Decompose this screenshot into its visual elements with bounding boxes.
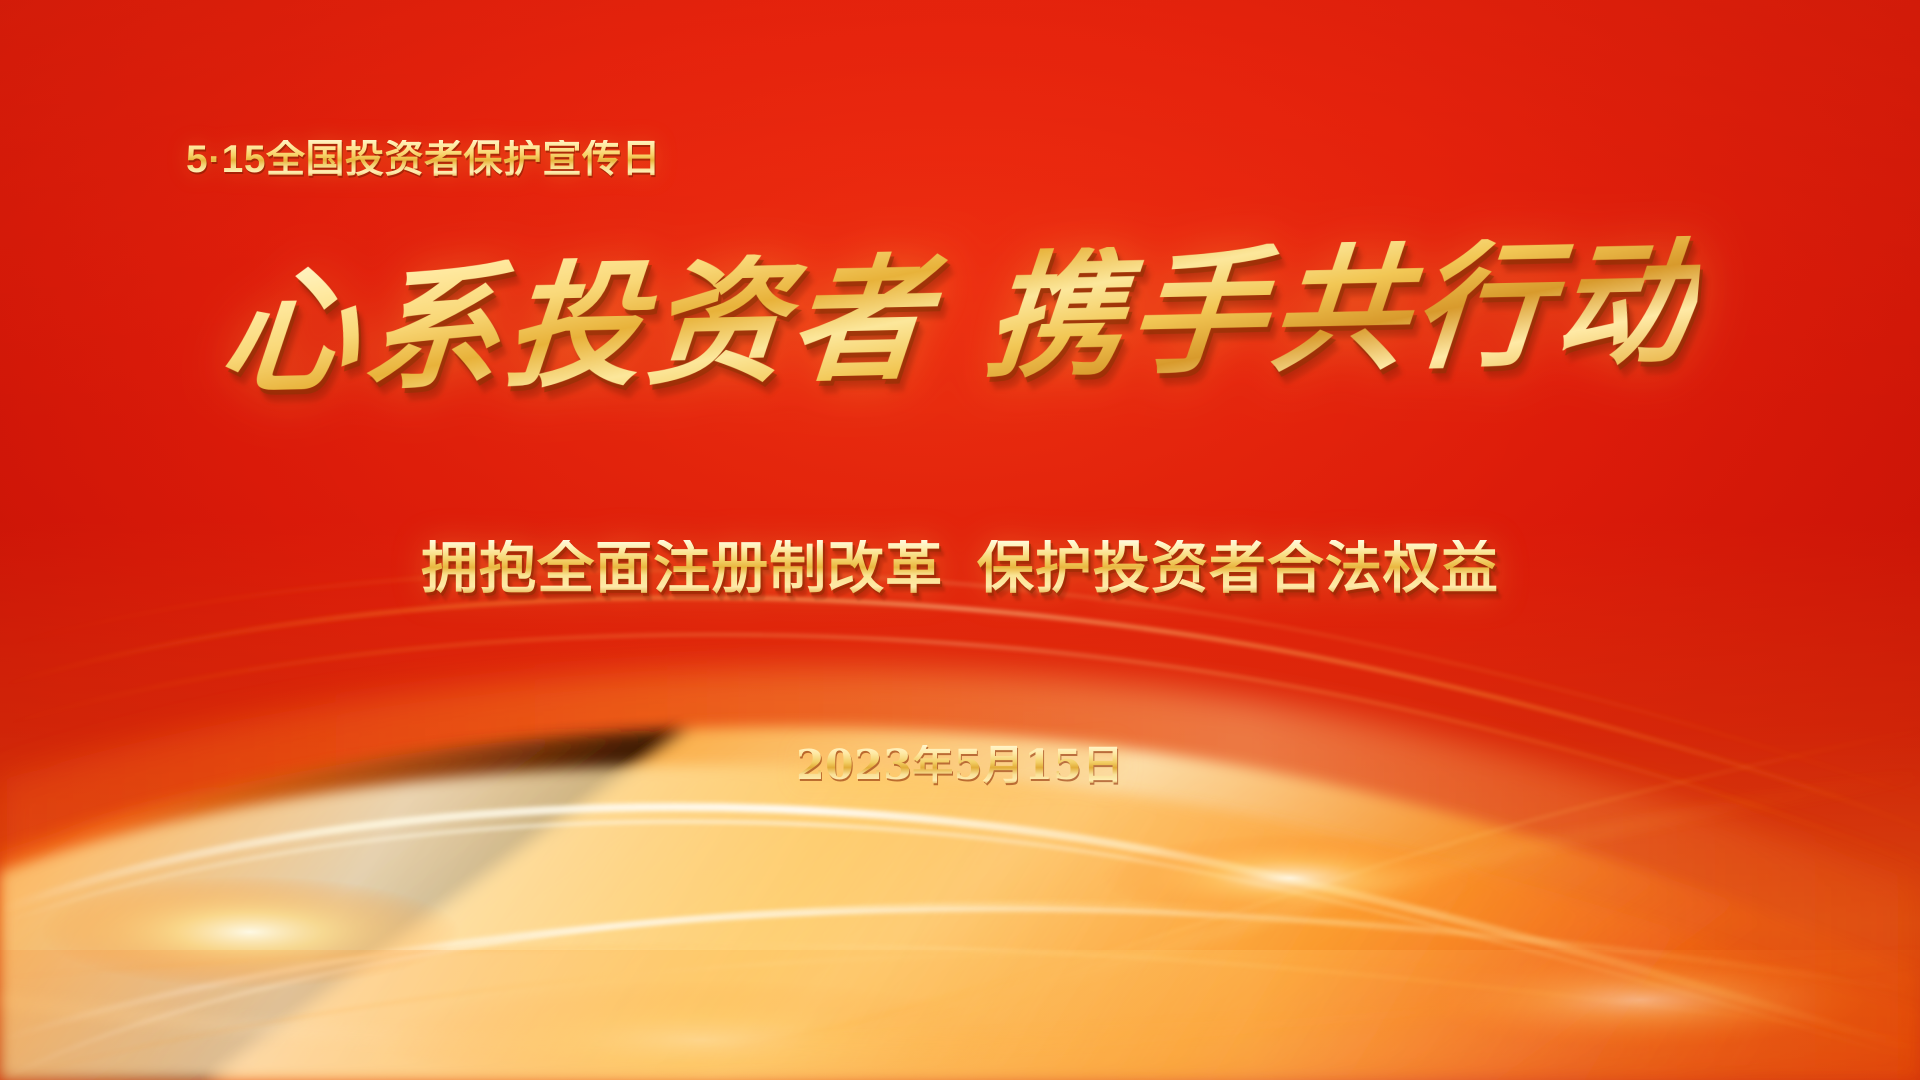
headline-block: 心系投资者 携手共行动 — [0, 250, 1920, 430]
subtitle-slogan: 拥抱全面注册制改革 保护投资者合法权益 — [421, 540, 1499, 597]
event-eyebrow-label: 5·15全国投资者保护宣传日 — [186, 140, 661, 179]
subtitle-block: 拥抱全面注册制改革 保护投资者合法权益 — [0, 540, 1920, 597]
poster-canvas: 5·15全国投资者保护宣传日 心系投资者 携手共行动 拥抱全面注册制改革 保护投… — [0, 0, 1920, 1080]
datestamp-block: 2023年5月15日 — [0, 745, 1920, 786]
event-date: 2023年5月15日 — [796, 745, 1124, 786]
page-title: 心系投资者 携手共行动 — [216, 235, 1704, 402]
